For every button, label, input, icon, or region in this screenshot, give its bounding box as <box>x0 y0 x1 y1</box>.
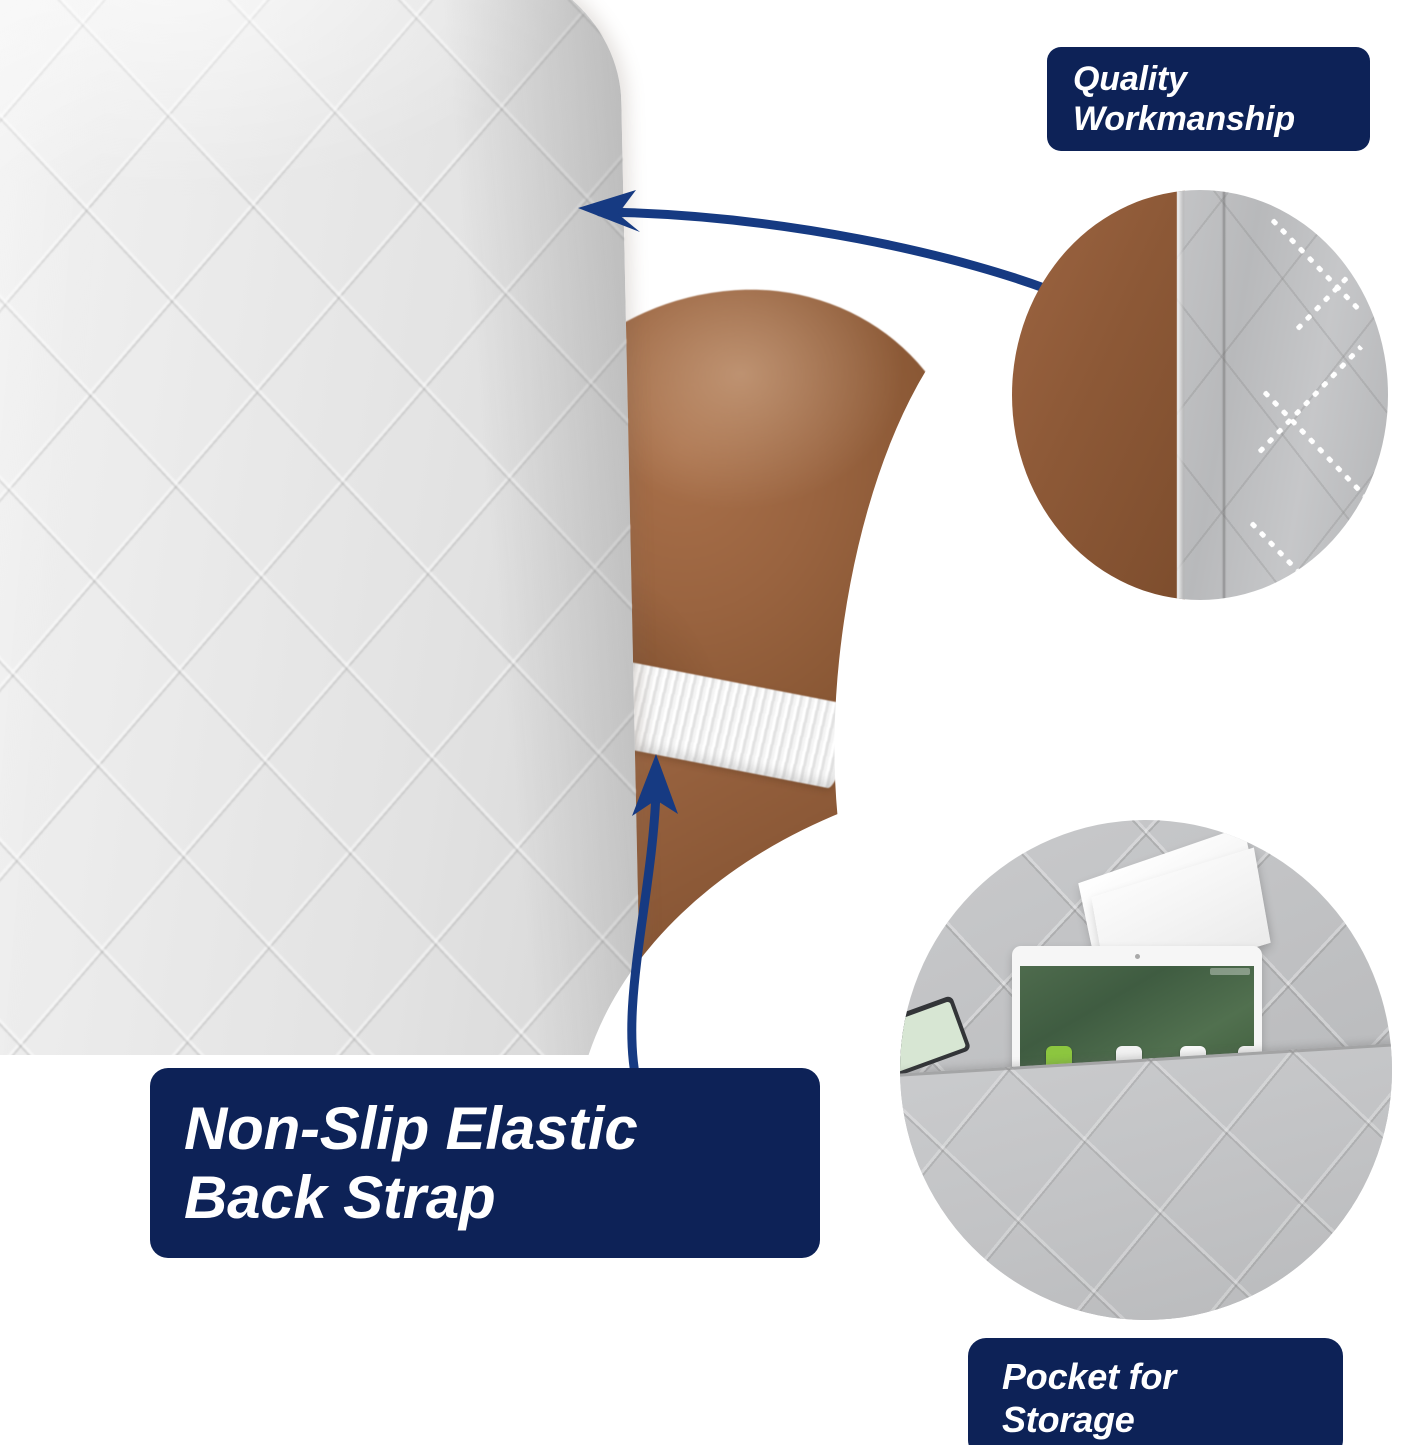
quilted-cover-panel <box>0 0 642 1088</box>
tablet-camera-icon <box>1135 954 1140 959</box>
pocket-front-panel <box>900 1041 1392 1320</box>
tablet-status-bar <box>1210 968 1250 975</box>
callout-line-1: Quality <box>1073 60 1187 98</box>
callout-line-1: Non-Slip Elastic <box>184 1095 638 1162</box>
stitch-run <box>1260 388 1368 499</box>
inset-leather-half <box>1012 190 1185 600</box>
callout-line-1: Pocket for <box>1002 1356 1176 1397</box>
stitch-run <box>1294 229 1388 333</box>
product-feature-image: Quality Workmanship Non-Slip Elastic Bac… <box>0 0 1414 1445</box>
callout-line-2: Storage <box>1002 1398 1176 1441</box>
hero-product-photo <box>0 0 960 1110</box>
inset-pocket-detail <box>900 820 1392 1320</box>
inset-quilted-fabric-half <box>1177 190 1388 600</box>
callout-quality-workmanship: Quality Workmanship <box>1047 47 1370 151</box>
callout-line-2: Back Strap <box>184 1163 638 1232</box>
inset-fabric-edge <box>1177 190 1184 600</box>
callout-pocket-for-storage: Pocket for Storage <box>968 1338 1343 1445</box>
inset-workmanship-detail <box>1012 190 1388 600</box>
stitch-run <box>1247 519 1334 600</box>
callout-non-slip-elastic-back-strap: Non-Slip Elastic Back Strap <box>150 1068 820 1258</box>
callout-line-2: Workmanship <box>1073 99 1295 139</box>
stitch-run <box>1268 215 1362 312</box>
inset-seam-line <box>1222 190 1226 600</box>
